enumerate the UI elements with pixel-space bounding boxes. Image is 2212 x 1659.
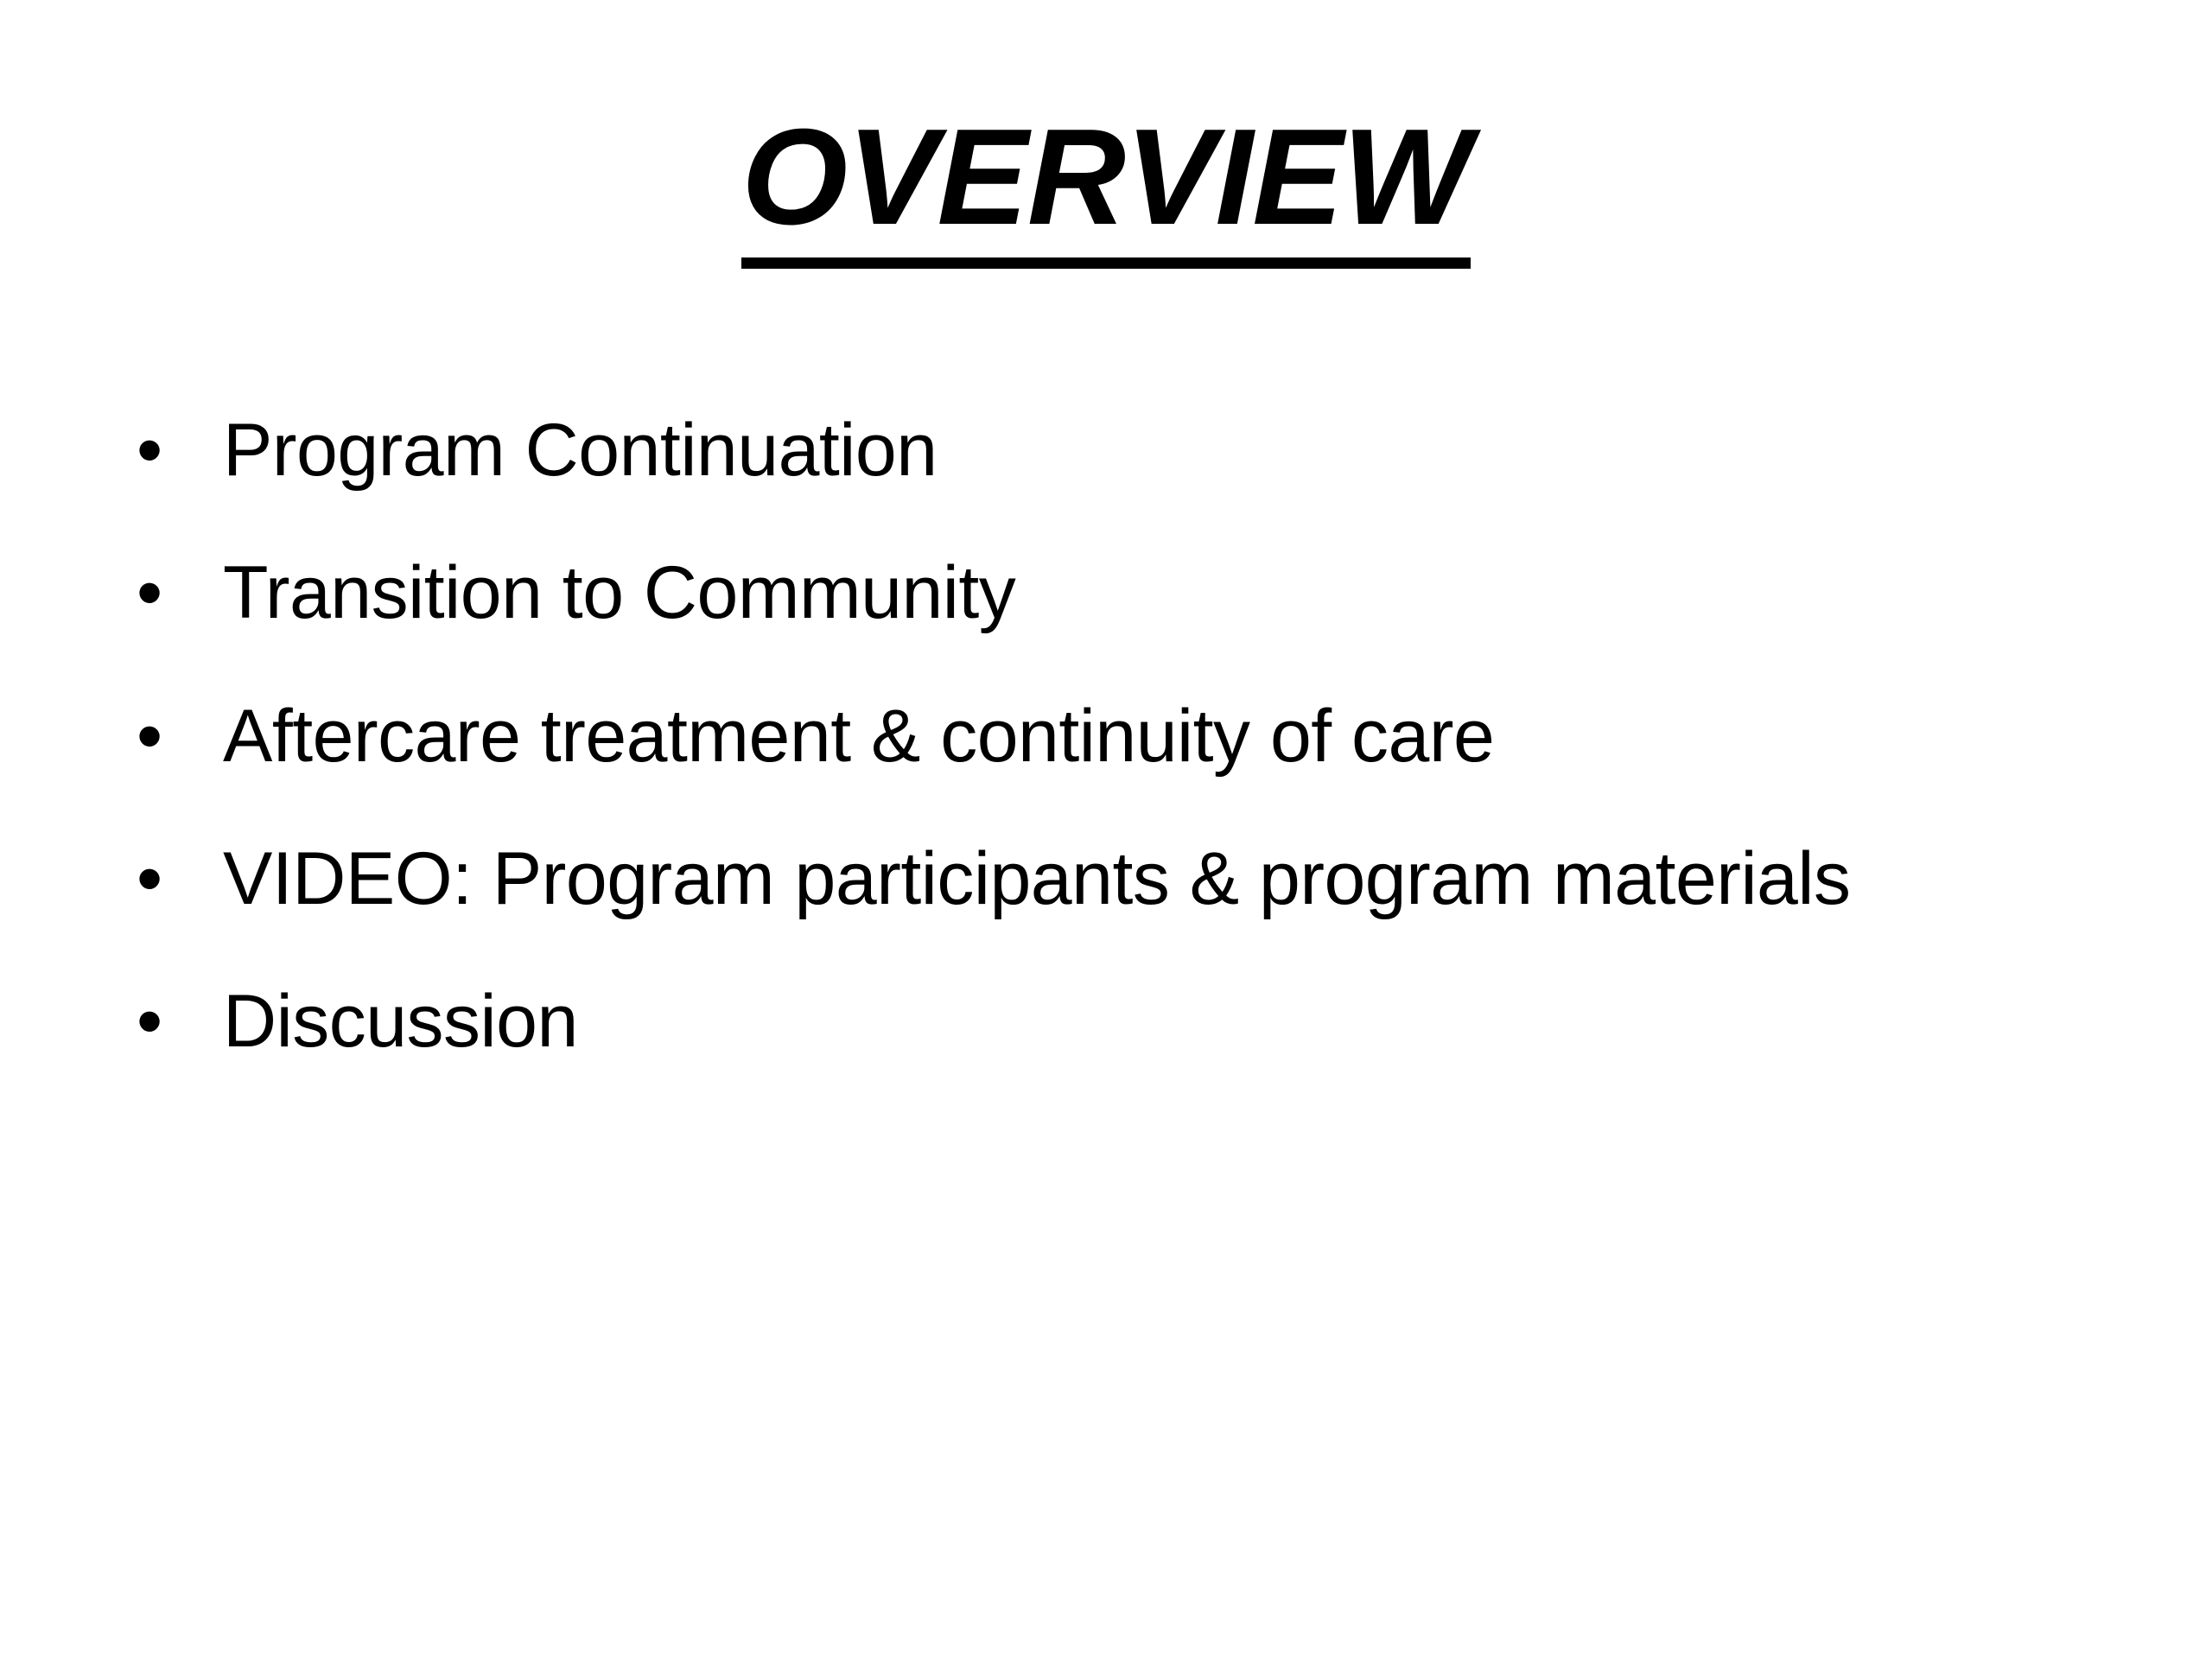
list-item-label: Aftercare treatment & continuity of care [223,677,2082,797]
list-item: • VIDEO: Program participants & program … [130,819,2082,939]
slide-title-block: OVERVIEW [0,109,2212,269]
list-item-label: Program Continuation [223,391,2082,511]
bullet-point-icon: • [137,962,180,1082]
list-item-label: Discussion [223,962,2082,1082]
list-item: • Transition to Community [130,533,2082,653]
bullet-point-icon: • [137,677,180,797]
list-item: • Discussion [130,962,2082,1082]
list-item-label: VIDEO: Program participants & program ma… [223,819,2082,939]
presentation-slide: OVERVIEW • Program Continuation • Transi… [0,0,2212,1659]
bullet-point-icon: • [137,819,180,939]
list-item: • Aftercare treatment & continuity of ca… [130,677,2082,797]
bullet-point-icon: • [137,533,180,653]
list-item: • Program Continuation [130,391,2082,511]
overview-bullet-list: • Program Continuation • Transition to C… [130,391,2082,1083]
bullet-point-icon: • [137,391,180,511]
list-item-label: Transition to Community [223,533,2082,653]
page-title: OVERVIEW [741,109,1471,269]
